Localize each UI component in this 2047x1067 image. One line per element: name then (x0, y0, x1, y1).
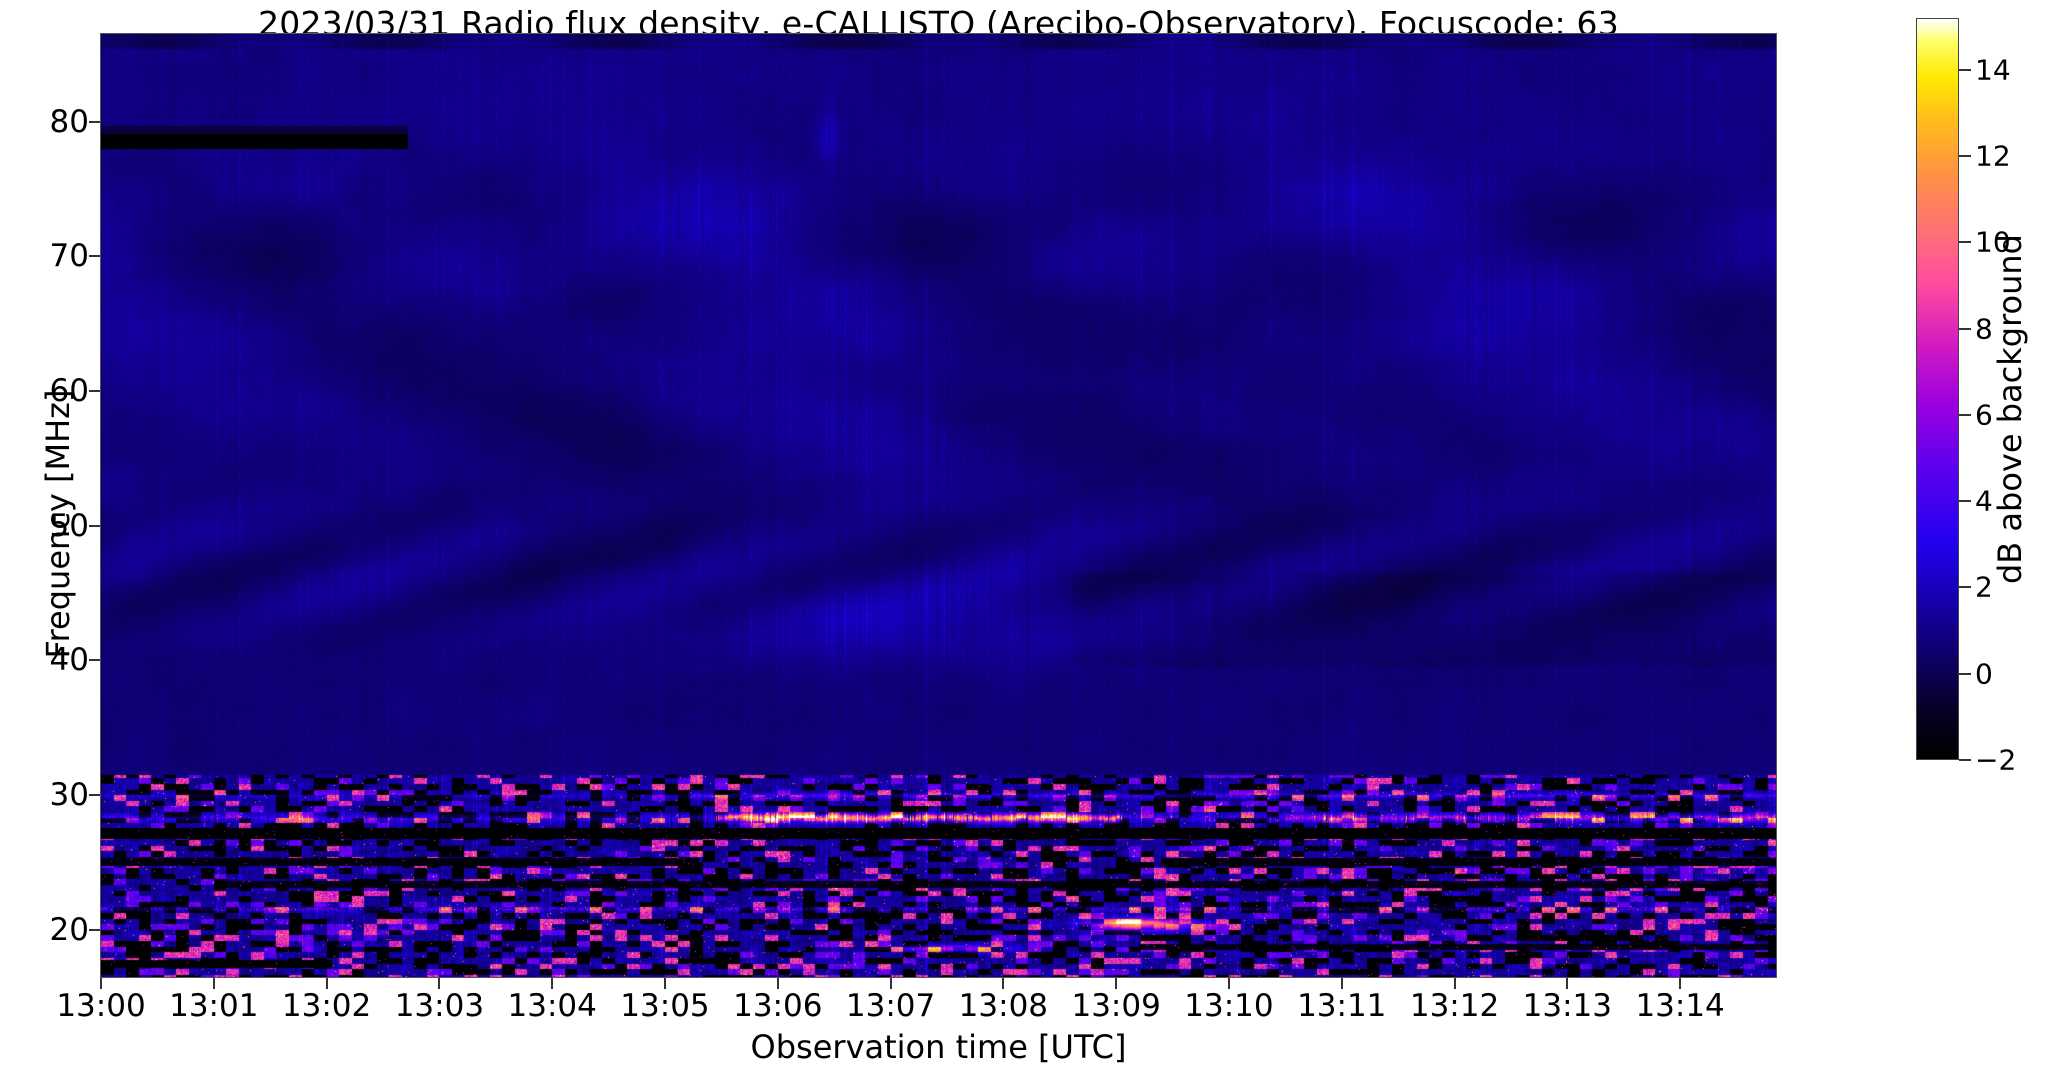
y-tick-label: 30 (50, 777, 89, 813)
y-tick-mark (89, 390, 100, 392)
x-tick-mark (664, 978, 666, 989)
spectrogram-canvas (101, 34, 1776, 977)
spectrogram-plot[interactable] (100, 33, 1777, 978)
colorbar-tick-mark (1959, 155, 1971, 157)
x-tick-mark (1679, 978, 1681, 989)
y-tick-mark (89, 121, 100, 123)
y-tick-mark (89, 794, 100, 796)
colorbar-tick-label: 2 (1975, 571, 1993, 604)
y-tick-mark (89, 255, 100, 257)
x-tick-mark (777, 978, 779, 989)
x-tick-mark (890, 978, 892, 989)
x-tick-label: 13:01 (169, 988, 258, 1024)
colorbar-tick-label: 10 (1975, 226, 2011, 259)
colorbar-tick-label: 0 (1975, 657, 1993, 690)
x-tick-label: 13:03 (395, 988, 484, 1024)
colorbar-tick-mark (1959, 414, 1971, 416)
x-tick-label: 13:05 (620, 988, 709, 1024)
colorbar-tick-label: −2 (1975, 744, 2016, 777)
y-tick-label: 20 (50, 912, 89, 948)
y-tick-label: 80 (50, 104, 89, 140)
x-tick-mark (213, 978, 215, 989)
colorbar-tick-label: 6 (1975, 398, 1993, 431)
y-tick-mark (89, 929, 100, 931)
colorbar-tick-mark (1959, 586, 1971, 588)
x-tick-label: 13:06 (733, 988, 822, 1024)
x-tick-mark (1228, 978, 1230, 989)
y-tick-label: 50 (50, 508, 89, 544)
colorbar-label: dB above background (1991, 19, 2029, 799)
colorbar-tick-mark (1959, 500, 1971, 502)
colorbar-tick-mark (1959, 328, 1971, 330)
colorbar-tick-mark (1959, 241, 1971, 243)
x-tick-label: 13:07 (846, 988, 935, 1024)
x-tick-mark (438, 978, 440, 989)
x-tick-mark (1454, 978, 1456, 989)
y-tick-label: 40 (50, 642, 89, 678)
y-tick-mark (89, 525, 100, 527)
x-tick-label: 13:09 (1071, 988, 1160, 1024)
x-tick-label: 13:10 (1184, 988, 1273, 1024)
colorbar[interactable] (1916, 18, 1959, 760)
x-tick-label: 13:02 (282, 988, 371, 1024)
colorbar-tick-label: 12 (1975, 140, 2011, 173)
x-tick-mark (1115, 978, 1117, 989)
x-tick-mark (1341, 978, 1343, 989)
colorbar-tick-label: 8 (1975, 312, 1993, 345)
x-tick-label: 13:11 (1297, 988, 1386, 1024)
x-tick-label: 13:12 (1410, 988, 1499, 1024)
colorbar-tick-label: 14 (1975, 53, 2011, 86)
x-tick-mark (326, 978, 328, 989)
x-tick-label: 13:00 (56, 988, 145, 1024)
x-tick-label: 13:04 (508, 988, 597, 1024)
colorbar-tick-label: 4 (1975, 485, 1993, 518)
colorbar-tick-mark (1959, 759, 1971, 761)
x-tick-mark (100, 978, 102, 989)
x-tick-label: 13:13 (1523, 988, 1612, 1024)
y-tick-mark (89, 659, 100, 661)
x-tick-label: 13:08 (959, 988, 1048, 1024)
x-tick-mark (551, 978, 553, 989)
colorbar-tick-mark (1959, 673, 1971, 675)
figure-root: 2023/03/31 Radio flux density, e-CALLIST… (0, 0, 2047, 1067)
x-tick-mark (1566, 978, 1568, 989)
x-tick-mark (1002, 978, 1004, 989)
y-tick-label: 60 (50, 373, 89, 409)
x-axis-label: Observation time [UTC] (100, 1028, 1777, 1066)
x-tick-label: 13:14 (1635, 988, 1724, 1024)
y-tick-label: 70 (50, 238, 89, 274)
colorbar-tick-mark (1959, 69, 1971, 71)
